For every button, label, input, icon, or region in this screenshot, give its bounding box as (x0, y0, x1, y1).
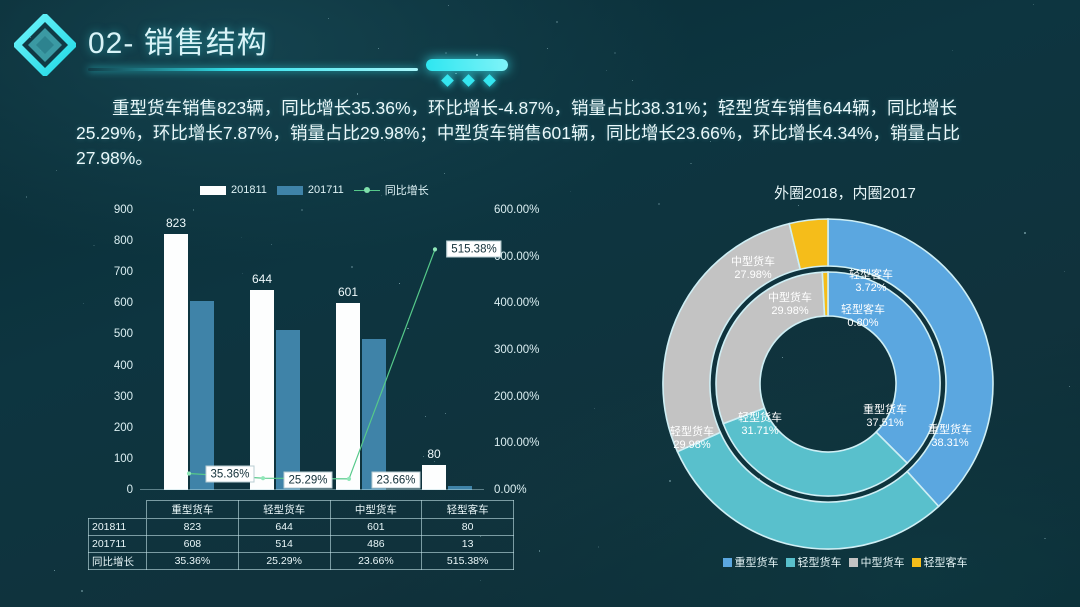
table-header-row: 重型货车 轻型货车 中型货车 轻型客车 (89, 501, 514, 519)
donut-chart-legend: 重型货车 轻型货车 中型货车 轻型客车 (620, 554, 1070, 570)
page-title: 02- 销售结构 (88, 18, 268, 62)
legend-item-growth: 同比增长 (354, 182, 429, 198)
page-title-text: 销售结构 (144, 27, 268, 60)
slide-canvas: 02- 销售结构 重型货车销售823辆，同比增长35.36%，环比增长-4.87… (0, 0, 1080, 607)
bar-plot-area: 900 800 700 600 500 400 300 200 100 0 60… (140, 210, 484, 490)
donut-legend-item-medium-truck: 中型货车 (849, 554, 905, 570)
y2-tick-2: 400.00% (494, 297, 539, 309)
table-row: 201811 823 644 601 80 (89, 519, 514, 536)
decor-diamond-2 (462, 74, 475, 87)
y2-tick-4: 200.00% (494, 391, 539, 403)
decor-bar (426, 59, 508, 71)
table-cell-r2c3: 515.38% (422, 553, 514, 570)
table-cell-r0c2: 601 (330, 519, 422, 536)
title-underline (88, 68, 418, 71)
table-cell-r1c3: 13 (422, 536, 514, 553)
cube-logo-icon (14, 14, 76, 76)
y-tick-300: 300 (114, 391, 133, 403)
table-col-header-2: 中型货车 (330, 501, 422, 519)
legend-line-growth (354, 186, 380, 195)
y-tick-400: 400 (114, 360, 133, 372)
y2-tick-0: 600.00% (494, 204, 539, 216)
y2-tick-6: 0.00% (494, 484, 527, 496)
y-tick-700: 700 (114, 266, 133, 278)
donut-legend-swatch-medium-truck (849, 558, 858, 567)
table-cell-r0c3: 80 (422, 519, 514, 536)
table-col-header-3: 轻型客车 (422, 501, 514, 519)
table-cell-r1c1: 514 (238, 536, 330, 553)
table-row-header-2: 同比增长 (89, 553, 147, 570)
donut-legend-label-medium-truck: 中型货车 (861, 554, 905, 570)
donut-legend-swatch-light-bus (912, 558, 921, 567)
page-title-dash: - (123, 27, 134, 60)
donut-legend-swatch-heavy-truck (723, 558, 732, 567)
legend-label-201811: 201811 (231, 184, 267, 196)
x-axis-line (140, 489, 484, 490)
summary-paragraph: 重型货车销售823辆，同比增长35.36%，环比增长-4.87%，销量占比38.… (76, 96, 1016, 171)
table-cell-r0c1: 644 (238, 519, 330, 536)
table-cell-r1c0: 608 (147, 536, 239, 553)
decor-diamond-1 (441, 74, 454, 87)
legend-label-growth: 同比增长 (385, 182, 429, 198)
y2-tick-5: 100.00% (494, 437, 539, 449)
y-tick-900: 900 (114, 204, 133, 216)
growth-line (140, 210, 484, 490)
y-tick-100: 100 (114, 453, 133, 465)
table-cell-r1c2: 486 (330, 536, 422, 553)
decor-diamond-3 (483, 74, 496, 87)
y-tick-0: 0 (127, 484, 133, 496)
growth-callout-g4: 515.38% (446, 241, 501, 258)
bar-chart-data-table: 重型货车 轻型货车 中型货车 轻型客车 201811 823 644 601 8… (88, 500, 514, 570)
donut-chart-title: 外圈2018，内圈2017 (620, 182, 1070, 203)
page-title-number: 02 (88, 27, 123, 60)
legend-item-201711: 201711 (277, 184, 344, 196)
bar-chart-legend: 201811 201711 同比增长 (200, 182, 429, 198)
y-tick-600: 600 (114, 297, 133, 309)
table-cell-r2c1: 25.29% (238, 553, 330, 570)
y-tick-500: 500 (114, 328, 133, 340)
table-cell-r2c2: 23.66% (330, 553, 422, 570)
y2-tick-3: 300.00% (494, 344, 539, 356)
table-col-header-1: 轻型货车 (238, 501, 330, 519)
donut-legend-swatch-light-truck (786, 558, 795, 567)
table-row: 201711 608 514 486 13 (89, 536, 514, 553)
donut-legend-item-light-bus: 轻型客车 (912, 554, 968, 570)
y-tick-800: 800 (114, 235, 133, 247)
donut-legend-label-light-bus: 轻型客车 (924, 554, 968, 570)
donut-legend-label-heavy-truck: 重型货车 (735, 554, 779, 570)
donut-legend-item-light-truck: 轻型货车 (786, 554, 842, 570)
donut-legend-label-light-truck: 轻型货车 (798, 554, 842, 570)
table-col-header-0: 重型货车 (147, 501, 239, 519)
table-row-header-0: 201811 (89, 519, 147, 536)
y-tick-200: 200 (114, 422, 133, 434)
legend-label-201711: 201711 (308, 184, 344, 196)
legend-swatch-201811 (200, 186, 226, 195)
table-row-header-1: 201711 (89, 536, 147, 553)
growth-callout-g1: 35.36% (205, 466, 254, 483)
legend-item-201811: 201811 (200, 184, 267, 196)
growth-callout-g2: 25.29% (283, 472, 332, 489)
legend-swatch-201711 (277, 186, 303, 195)
donut-legend-item-heavy-truck: 重型货车 (723, 554, 779, 570)
table-corner-cell (89, 501, 147, 519)
table-cell-r0c0: 823 (147, 519, 239, 536)
growth-callout-g3: 23.66% (371, 472, 420, 489)
table-row: 同比增长 35.36% 25.29% 23.66% 515.38% (89, 553, 514, 570)
donut-rings (658, 214, 998, 554)
donut-chart: 外圈2018，内圈2017 (620, 182, 1070, 582)
table-cell-r2c0: 35.36% (147, 553, 239, 570)
